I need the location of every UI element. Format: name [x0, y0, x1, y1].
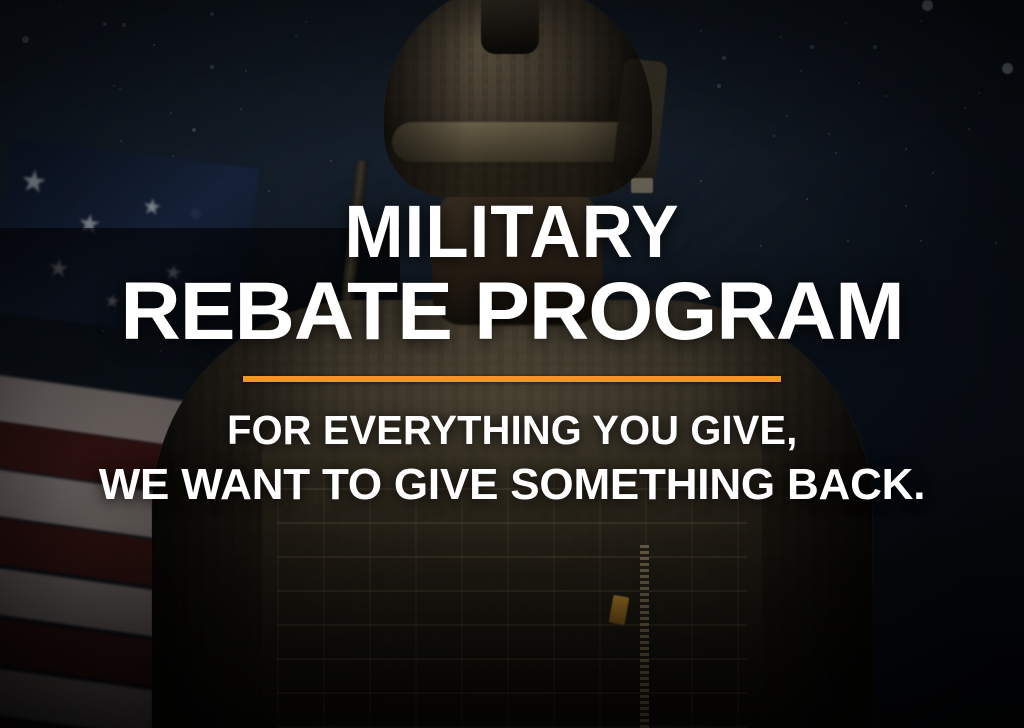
military-rebate-banner: ★ ★ ★ ★ ★ ★ MILITARY REBATE PROGRAM — [0, 0, 1024, 728]
orange-divider — [243, 376, 781, 382]
banner-content: MILITARY REBATE PROGRAM FOR EVERYTHING Y… — [0, 0, 1024, 728]
headline-line-2: REBATE PROGRAM — [120, 273, 903, 352]
subheading: FOR EVERYTHING YOU GIVE, WE WANT TO GIVE… — [99, 408, 926, 509]
subheading-line-1: FOR EVERYTHING YOU GIVE, — [111, 408, 913, 454]
headline-line-1: MILITARY — [143, 196, 880, 267]
page-title: MILITARY REBATE PROGRAM — [128, 196, 896, 352]
subheading-line-2: WE WANT TO GIVE SOMETHING BACK. — [99, 460, 926, 509]
